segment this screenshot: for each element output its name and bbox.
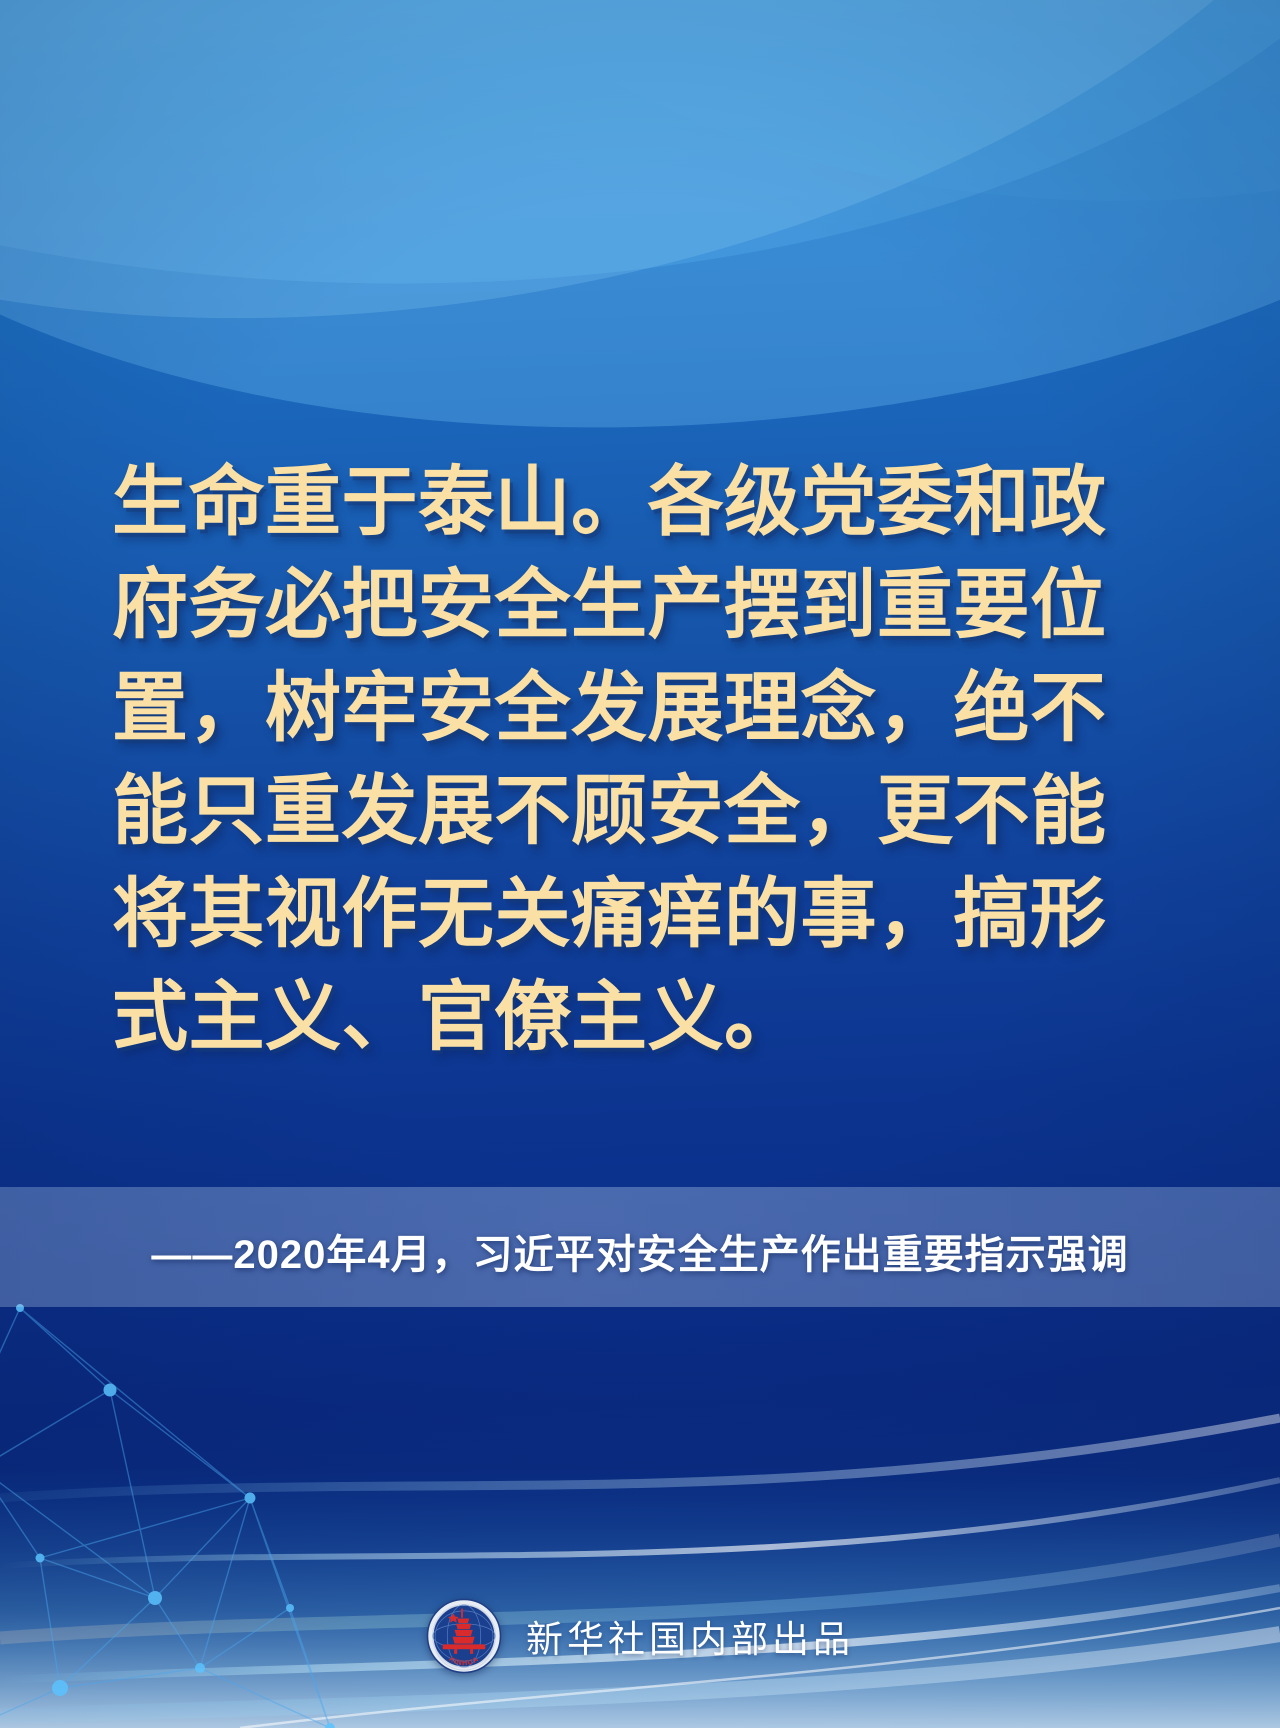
xinhua-logo-icon: XINHUA — [426, 1598, 502, 1674]
attribution-line: ——2020年4月，习近平对安全生产作出重要指示强调 — [0, 1222, 1280, 1280]
footer-credit: XINHUA 新华社国内部出品 — [0, 1598, 1280, 1674]
footer-credit-label: 新华社国内部出品 — [526, 1609, 854, 1663]
poster-canvas: 生命重于泰山。各级党委和政府务必把安全生产摆到重要位置，树牢安全发展理念，绝不能… — [0, 0, 1280, 1728]
main-quote-text: 生命重于泰山。各级党委和政府务必把安全生产摆到重要位置，树牢安全发展理念，绝不能… — [112, 452, 1172, 1070]
